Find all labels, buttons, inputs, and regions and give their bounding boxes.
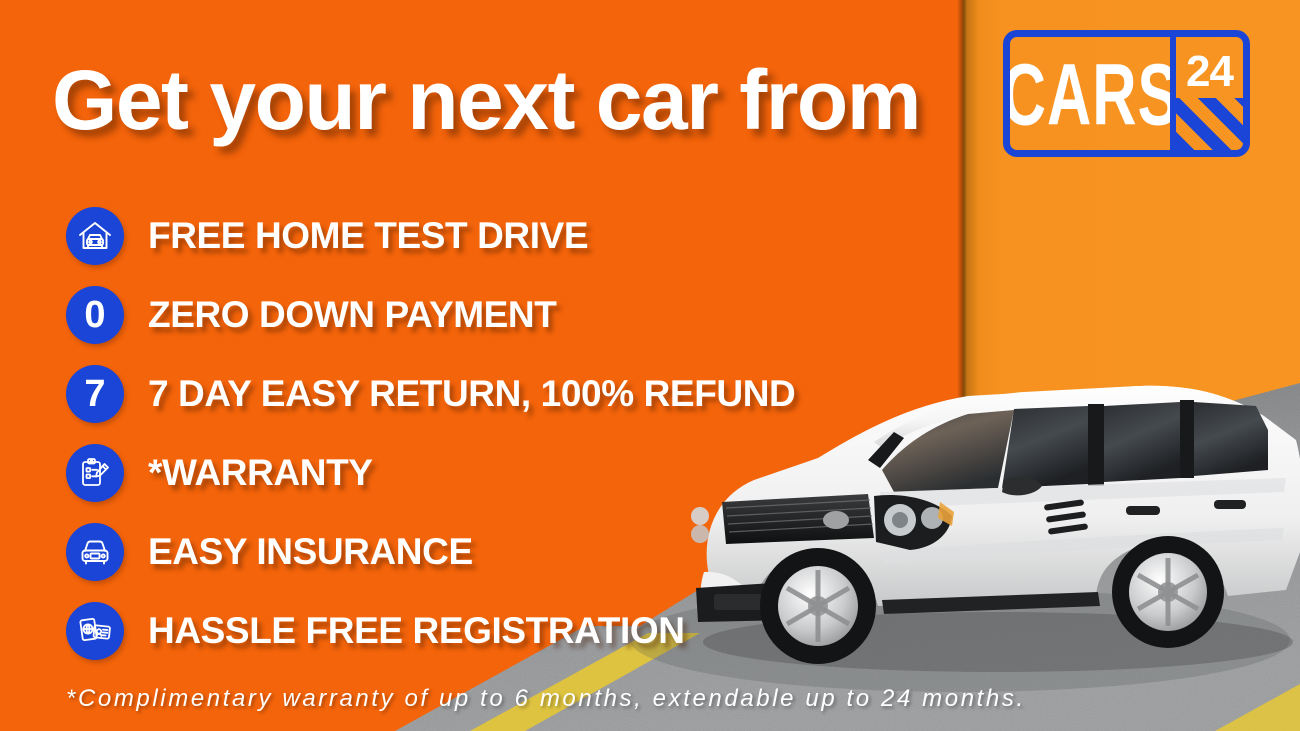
feature-item-free-home-test-drive[interactable]: FREE HOME TEST DRIVE: [66, 196, 795, 275]
feature-label: HASSLE FREE REGISTRATION: [148, 610, 685, 652]
logo-number-text: 24: [1186, 47, 1233, 97]
advertisement-banner: Get your next car from CARS 24: [0, 0, 1300, 731]
car-front-icon: [66, 523, 124, 581]
zero-glyph: 0: [84, 296, 105, 334]
seven-number-icon: 7: [66, 365, 124, 423]
feature-label: 7 DAY EASY RETURN, 100% REFUND: [148, 373, 795, 415]
background-divider: [957, 0, 967, 731]
feature-list: FREE HOME TEST DRIVE 0 ZERO DOWN PAYMENT…: [66, 196, 795, 670]
logo-stripes: [1176, 98, 1243, 150]
feature-item-hassle-free-registration[interactable]: HASSLE FREE REGISTRATION: [66, 591, 795, 670]
home-garage-car-icon: [66, 207, 124, 265]
feature-item-seven-day-return[interactable]: 7 7 DAY EASY RETURN, 100% REFUND: [66, 354, 795, 433]
feature-label: ZERO DOWN PAYMENT: [148, 294, 556, 336]
feature-item-warranty[interactable]: *WARRANTY: [66, 433, 795, 512]
logo-badge: 24: [1176, 37, 1243, 150]
cars24-logo[interactable]: CARS 24: [1003, 30, 1250, 157]
seven-glyph: 7: [84, 375, 105, 413]
feature-label: FREE HOME TEST DRIVE: [148, 215, 588, 257]
zero-number-icon: 0: [66, 286, 124, 344]
headline: Get your next car from: [52, 52, 920, 149]
logo-wordmark: CARS: [1010, 37, 1170, 150]
feature-item-zero-down-payment[interactable]: 0 ZERO DOWN PAYMENT: [66, 275, 795, 354]
clipboard-pen-icon: [66, 444, 124, 502]
documents-id-icon: [66, 602, 124, 660]
disclaimer-text: *Complimentary warranty of up to 6 month…: [66, 685, 1026, 713]
feature-label: EASY INSURANCE: [148, 531, 473, 573]
feature-item-easy-insurance[interactable]: EASY INSURANCE: [66, 512, 795, 591]
logo-wordmark-text: CARS: [1003, 43, 1179, 143]
feature-label: *WARRANTY: [148, 452, 373, 494]
